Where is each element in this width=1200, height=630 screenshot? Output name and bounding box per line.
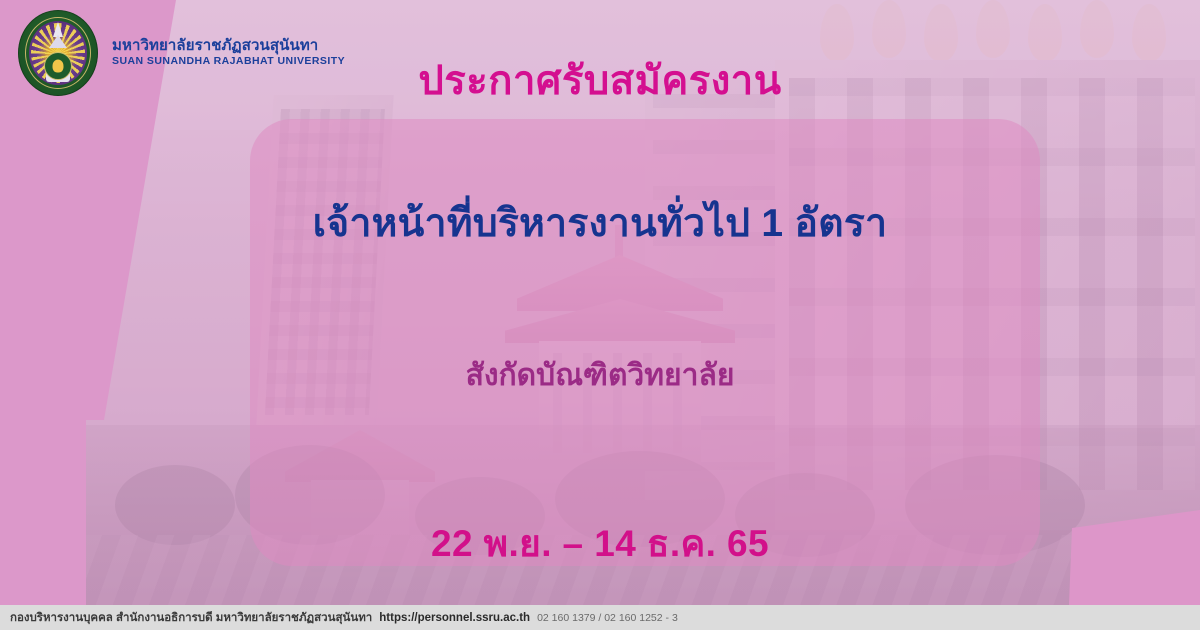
application-date-range: 22 พ.ย. – 14 ธ.ค. 65 (0, 514, 1200, 573)
content-card (250, 119, 1040, 566)
brand-bar: มหาวิทยาลัยราชภัฏสวนสุนันทา SUAN SUNANDH… (18, 10, 345, 96)
brand-name-en: SUAN SUNANDHA RAJABHAT UNIVERSITY (112, 56, 345, 68)
position-title: เจ้าหน้าที่บริหารงานทั่วไป 1 อัตรา (0, 192, 1200, 254)
footer-url[interactable]: https://personnel.ssru.ac.th (379, 612, 530, 624)
footer-phone: 02 160 1379 / 02 160 1252 - 3 (537, 612, 678, 624)
brand-name-th: มหาวิทยาลัยราชภัฏสวนสุนันทา (112, 38, 345, 55)
department-label: สังกัดบัณฑิตวิทยาลัย (0, 352, 1200, 399)
ssru-university-seal-icon (18, 10, 98, 96)
footer-bar: กองบริหารงานบุคคล สำนักงานอธิการบดี มหาว… (0, 605, 1200, 630)
job-announcement-poster: มหาวิทยาลัยราชภัฏสวนสุนันทา SUAN SUNANDH… (0, 0, 1200, 630)
brand-text: มหาวิทยาลัยราชภัฏสวนสุนันทา SUAN SUNANDH… (112, 38, 345, 68)
footer-organization: กองบริหารงานบุคคล สำนักงานอธิการบดี มหาว… (10, 609, 372, 627)
